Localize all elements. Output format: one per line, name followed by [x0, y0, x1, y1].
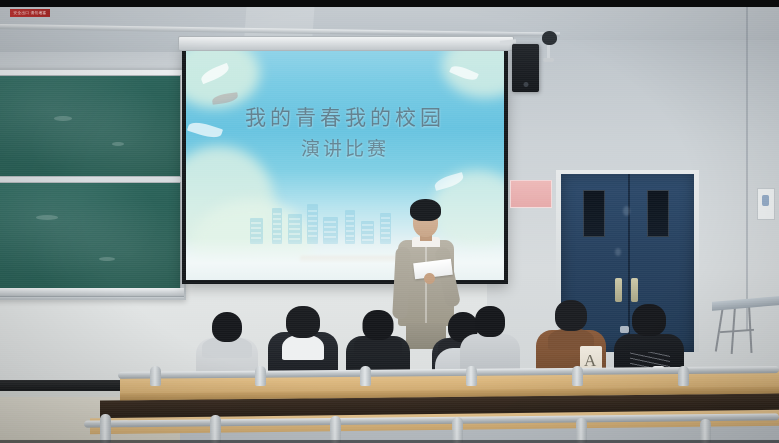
student-head — [286, 306, 320, 338]
door-scuff — [623, 206, 630, 216]
rail-post — [360, 366, 371, 386]
rail-post — [255, 366, 266, 386]
rail-post — [100, 414, 111, 443]
wall-notice-sign — [757, 188, 775, 220]
jacket-placket — [425, 244, 427, 326]
chalk-ledge — [0, 288, 184, 297]
exit-sign-label: 安全出口 请勿堵塞 — [14, 10, 47, 16]
door-handle-right[interactable] — [631, 278, 638, 302]
chalk-smudge — [99, 257, 115, 261]
student-head — [363, 310, 394, 340]
student-head — [212, 312, 242, 342]
speaker-hand — [424, 273, 435, 284]
blackboard-upper-panel — [0, 75, 181, 177]
glasses-icon — [620, 326, 629, 333]
rail-post — [466, 366, 477, 386]
wall-corner-seam — [746, 0, 748, 330]
door-scuff — [615, 248, 621, 256]
student-head — [475, 306, 505, 337]
door-window-left — [583, 190, 605, 237]
chalk-smudge — [54, 116, 72, 121]
door-handle-left[interactable] — [615, 278, 622, 302]
tote-bag-letter: A — [584, 352, 596, 369]
door-window-right — [647, 190, 669, 237]
rail-post — [678, 366, 689, 386]
letterbox-top — [0, 0, 779, 7]
camera-base — [543, 58, 554, 62]
rail-post — [330, 416, 341, 443]
student-head — [555, 300, 587, 331]
student-head — [632, 304, 666, 336]
blackboard-lower-panel — [0, 182, 181, 289]
security-camera-icon — [542, 31, 557, 45]
wall-speaker-icon — [512, 44, 539, 92]
rail-post — [150, 366, 161, 386]
exit-sign: 安全出口 请勿堵塞 — [10, 9, 50, 17]
blackboard — [0, 68, 186, 300]
screen-housing — [178, 36, 514, 51]
rail-post — [210, 415, 221, 443]
rail-post — [572, 366, 583, 386]
classroom-photo: 我的青春我的校园 演讲比赛 安全出口 请勿堵塞 — [0, 0, 779, 443]
slide-subtitle: 演讲比赛 — [186, 134, 504, 161]
slide-title: 我的青春我的校园 — [186, 102, 504, 132]
chalk-smudge — [36, 215, 58, 220]
wall-poster — [510, 180, 552, 208]
speaker-hair — [410, 199, 441, 221]
chalk-smudge — [112, 142, 124, 146]
